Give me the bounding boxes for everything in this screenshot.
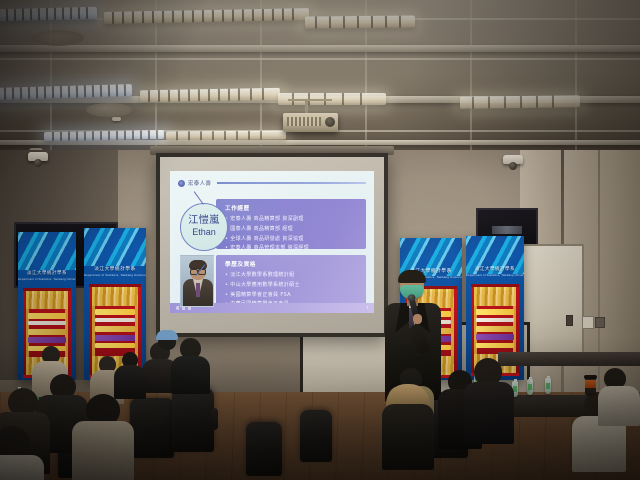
ceiling bbox=[0, 0, 640, 165]
speaker-name-cn: 江愷嵐 bbox=[188, 216, 220, 226]
sign-plate-icon bbox=[492, 226, 522, 234]
lecture-hall-photo: 淡江大學統計學系 Department of Statistics, Tamka… bbox=[0, 0, 640, 480]
presentation-slide: 宏泰人壽 江愷嵐 Ethan 工作經歷 宏泰人壽 商品精算部 資深副理 國泰人壽… bbox=[170, 171, 374, 313]
banner-title-en: Department of Statistics, Tamkang Univer… bbox=[84, 274, 146, 277]
list-item: 國泰人壽 商品精算部 經理 bbox=[225, 225, 359, 235]
section-list: 宏泰人壽 商品精算部 資深副理 國泰人壽 商品精算部 經理 全球人壽 商品研發處… bbox=[225, 215, 359, 254]
lecture-chair bbox=[246, 422, 282, 476]
cap-icon bbox=[156, 330, 178, 340]
banner-stripe-graphic bbox=[84, 228, 146, 266]
poster-gold-border-top bbox=[26, 291, 69, 309]
poster-gold-border-top bbox=[474, 287, 517, 306]
banner-title-en: Department of Statistics, Tamkang Univer… bbox=[466, 274, 524, 277]
slide-section-education: 學歷及資格 淡江大學數學系數理統計組 中山大學應用數學系統計碩士 美國精算學會正… bbox=[216, 255, 366, 307]
security-camera-icon bbox=[503, 155, 523, 164]
lecture-chair bbox=[172, 388, 214, 452]
poster-gold-border-top bbox=[92, 287, 138, 306]
slide-header-rule bbox=[217, 182, 366, 183]
list-item: 宏泰人壽 商品管理本部 資深經理 bbox=[225, 244, 359, 254]
presenter-hand bbox=[413, 314, 422, 324]
speaker-name-en: Ethan bbox=[192, 226, 216, 238]
lecture-chair bbox=[130, 398, 174, 458]
banner-title-cn: 淡江大學統計學系 bbox=[466, 266, 524, 272]
projection-screen: 宏泰人壽 江愷嵐 Ethan 工作經歷 宏泰人壽 商品精算部 資深副理 國泰人壽… bbox=[156, 153, 388, 337]
slide-header: 宏泰人壽 bbox=[178, 177, 366, 189]
lecture-chair bbox=[300, 410, 332, 462]
section-heading: 學歷及資格 bbox=[225, 260, 359, 268]
banner-title-en: Department of Statistics, Tamkang Univer… bbox=[18, 278, 76, 281]
light-switch-plate[interactable] bbox=[582, 316, 594, 329]
banner-title-cn: 淡江大學統計學系 bbox=[84, 266, 146, 272]
security-camera-icon bbox=[28, 152, 48, 161]
presenter-hair bbox=[398, 270, 426, 283]
light-switch-plate[interactable] bbox=[595, 317, 605, 328]
list-item: 全球人壽 商品研發處 資深協理 bbox=[225, 235, 359, 245]
projector-lens-icon bbox=[325, 117, 335, 127]
speaker-name-bubble: 江愷嵐 Ethan bbox=[180, 203, 228, 251]
banner-title-cn: 淡江大學統計學系 bbox=[18, 270, 76, 276]
slide-brand-label: 宏泰人壽 bbox=[188, 179, 211, 187]
company-logo-icon bbox=[178, 180, 185, 187]
speaker-headshot-photo bbox=[180, 255, 214, 307]
audience-area bbox=[0, 330, 640, 480]
banner-stripe-graphic bbox=[18, 232, 76, 270]
projector-vent-icon bbox=[287, 117, 321, 126]
screen-surface: 宏泰人壽 江愷嵐 Ethan 工作經歷 宏泰人壽 商品精算部 資深副理 國泰人壽… bbox=[160, 157, 384, 333]
projector bbox=[283, 113, 338, 132]
list-item: 中山大學應用數學系統計碩士 bbox=[225, 281, 359, 291]
list-item: 淡江大學數學系數理統計組 bbox=[225, 271, 359, 281]
light-switch-plate[interactable] bbox=[566, 315, 573, 326]
slide-page-number: 1 bbox=[367, 305, 369, 310]
list-item: 美國精算學會正會員 FSA bbox=[225, 291, 359, 301]
projector-mount-arm bbox=[288, 99, 332, 101]
section-heading: 工作經歷 bbox=[225, 204, 359, 212]
coffee-cup bbox=[585, 378, 596, 396]
slide-section-work-experience: 工作經歷 宏泰人壽 商品精算部 資深副理 國泰人壽 商品精算部 經理 全球人壽 … bbox=[216, 199, 366, 249]
list-item: 宏泰人壽 商品精算部 資深副理 bbox=[225, 215, 359, 225]
